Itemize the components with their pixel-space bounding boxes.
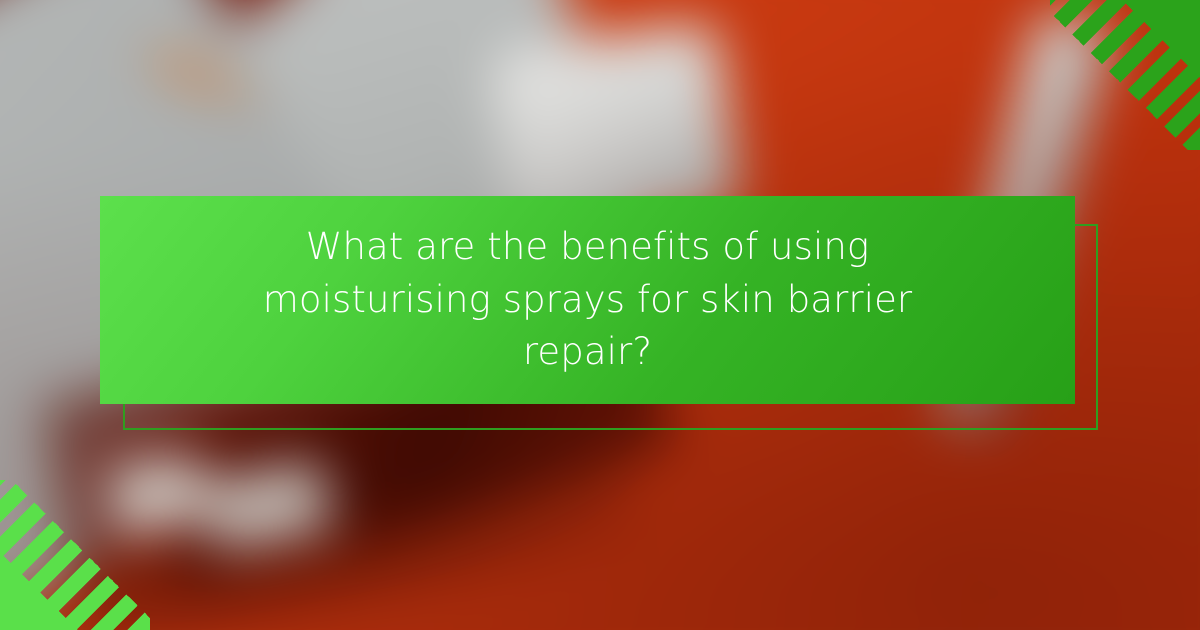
question-card: What are the benefits of using moisturis… bbox=[100, 196, 1075, 404]
question-text: What are the benefits of using moisturis… bbox=[198, 221, 978, 379]
share-card-canvas: What are the benefits of using moisturis… bbox=[0, 0, 1200, 630]
